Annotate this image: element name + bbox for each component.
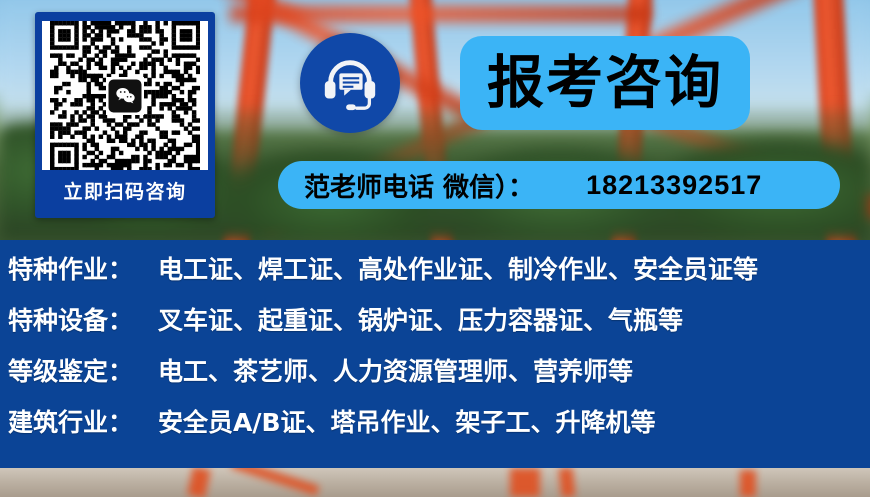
category-value: 叉车证、起重证、锅炉证、压力容器证、气瓶等 [158,301,683,337]
bottom-photo-strip [0,468,870,497]
qr-code-card[interactable]: 立即扫码咨询 [35,12,215,218]
qr-code-image[interactable] [42,21,208,170]
steel-beam [187,468,211,497]
steel-beam [740,470,756,497]
wechat-icon [109,79,142,112]
category-label: 特种作业： [8,250,158,286]
headline-text: 报考咨询 [487,55,723,112]
contact-label: 范老师电话 微信）： [304,167,534,204]
category-row: 等级鉴定： 电工、茶艺师、人力资源管理师、营养师等 [0,352,870,403]
category-value: 电工、茶艺师、人力资源管理师、营养师等 [158,352,633,388]
category-label: 建筑行业： [8,403,158,439]
headset-support-icon [300,33,400,133]
category-row: 特种作业： 电工证、焊工证、高处作业证、制冷作业、安全员证等 [0,250,870,301]
steel-beam-horizontal [230,6,650,22]
category-label: 特种设备： [8,301,158,337]
qr-caption: 立即扫码咨询 [44,170,206,214]
contact-pill[interactable]: 范老师电话 微信）： 18213392517 [278,161,840,209]
category-row: 特种设备： 叉车证、起重证、锅炉证、压力容器证、气瓶等 [0,301,870,352]
steel-beam [510,468,540,497]
steel-beam [231,468,320,496]
category-value: 电工证、焊工证、高处作业证、制冷作业、安全员证等 [158,250,758,286]
headline-pill: 报考咨询 [460,36,750,130]
category-label: 等级鉴定： [8,352,158,388]
contact-phone-number[interactable]: 18213392517 [586,170,762,201]
promo-banner: 立即扫码咨询 报考咨询 范老师电话 微信）： 18213392517 特种作业：… [0,0,870,497]
category-value: 安全员A/B证、塔吊作业、架子工、升降机等 [158,403,656,439]
steel-beam [559,468,576,497]
category-row: 建筑行业： 安全员A/B证、塔吊作业、架子工、升降机等 [0,403,870,454]
certificate-categories-panel: 特种作业： 电工证、焊工证、高处作业证、制冷作业、安全员证等 特种设备： 叉车证… [0,240,870,468]
